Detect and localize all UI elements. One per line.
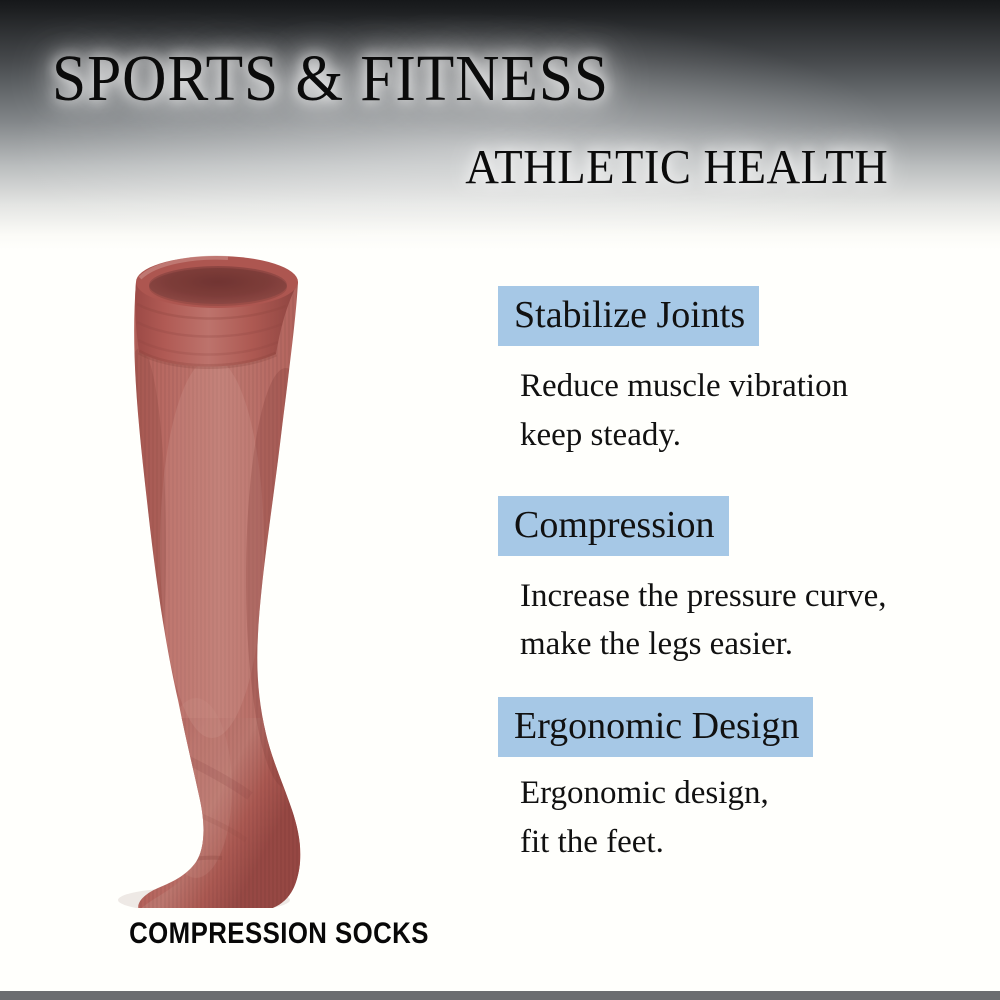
feature-body-line: Increase the pressure curve, bbox=[520, 572, 968, 621]
feature-heading-stabilize-joints: Stabilize Joints bbox=[498, 286, 759, 346]
bottom-divider-strip bbox=[0, 991, 1000, 1000]
product-image bbox=[100, 248, 400, 908]
feature-item-ergonomic-design: Ergonomic Design Ergonomic design, fit t… bbox=[498, 697, 968, 867]
product-caption: COMPRESSION SOCKS bbox=[129, 917, 430, 951]
feature-body-line: make the legs easier. bbox=[520, 620, 968, 669]
product-infographic: SPORTS & FITNESS ATHLETIC HEALTH bbox=[0, 0, 1000, 1000]
feature-item-stabilize-joints: Stabilize Joints Reduce muscle vibration… bbox=[498, 286, 968, 460]
feature-body-stabilize-joints: Reduce muscle vibration keep steady. bbox=[520, 362, 968, 460]
feature-list: Stabilize Joints Reduce muscle vibration… bbox=[498, 286, 968, 867]
feature-body-line: keep steady. bbox=[520, 411, 968, 460]
feature-body-compression: Increase the pressure curve, make the le… bbox=[520, 572, 968, 670]
header-gradient-band bbox=[0, 0, 1000, 250]
page-subtitle: ATHLETIC HEALTH bbox=[465, 142, 888, 191]
feature-body-line: fit the feet. bbox=[520, 818, 968, 867]
page-title: SPORTS & FITNESS bbox=[52, 46, 609, 112]
feature-body-line: Ergonomic design, bbox=[520, 769, 968, 818]
feature-heading-ergonomic-design: Ergonomic Design bbox=[498, 697, 813, 757]
feature-item-compression: Compression Increase the pressure curve,… bbox=[498, 496, 968, 670]
feature-body-ergonomic-design: Ergonomic design, fit the feet. bbox=[520, 769, 968, 867]
feature-body-line: Reduce muscle vibration bbox=[520, 362, 968, 411]
feature-heading-compression: Compression bbox=[498, 496, 729, 556]
